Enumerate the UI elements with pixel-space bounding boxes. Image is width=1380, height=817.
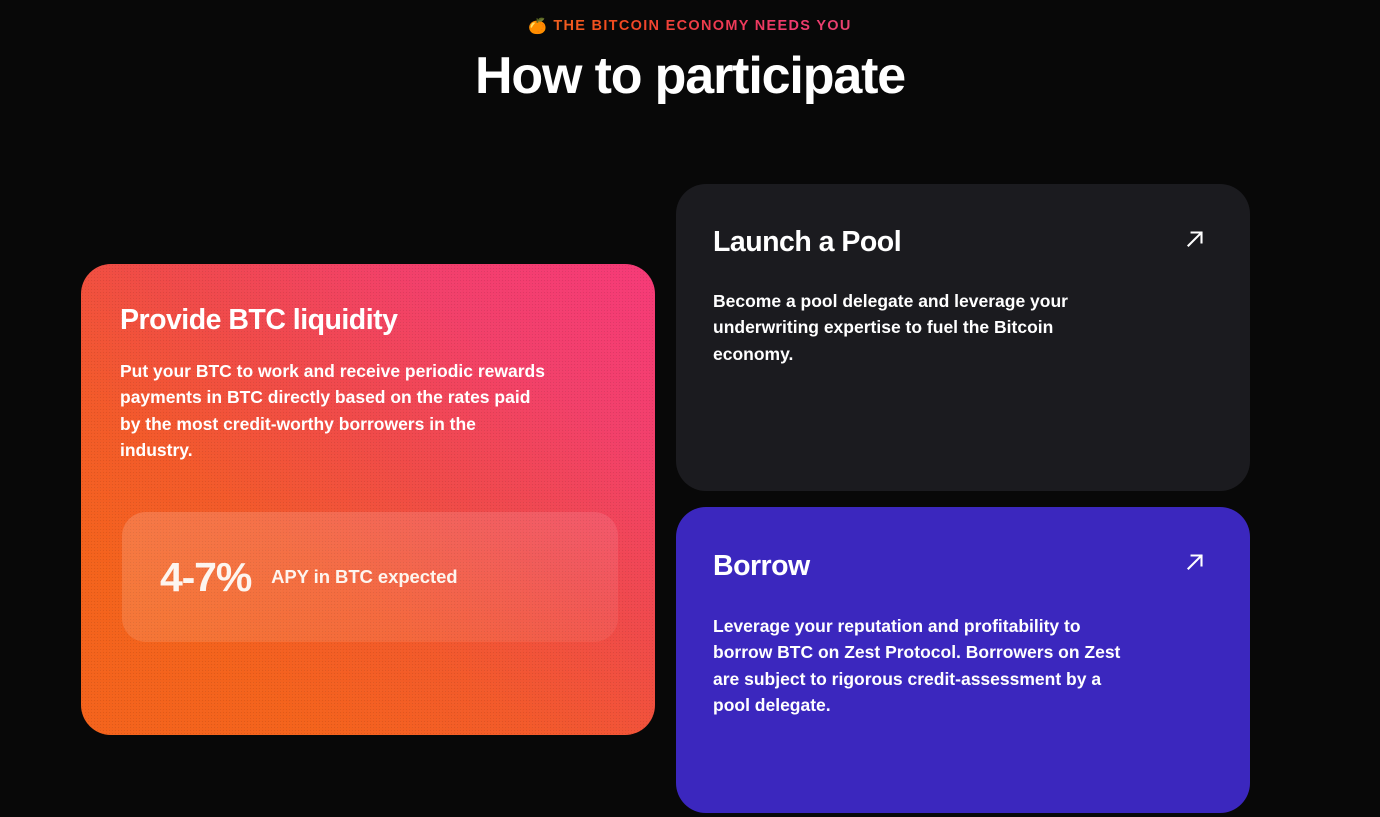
card-borrow[interactable]: Borrow Leverage your reputation and prof… [676,507,1250,813]
eyebrow-label: THE BITCOIN ECONOMY NEEDS YOU [553,18,851,34]
apy-badge: 4-7% APY in BTC expected [122,512,618,642]
card-title-liquidity: Provide BTC liquidity [120,305,397,336]
arrow-up-right-icon[interactable] [1182,226,1208,252]
card-launch-a-pool[interactable]: Launch a Pool Become a pool delegate and… [676,184,1250,491]
arrow-up-right-icon[interactable] [1182,549,1208,575]
card-body-borrow: Leverage your reputation and profitabili… [713,613,1138,718]
apy-label: APY in BTC expected [271,566,457,588]
card-body-liquidity: Put your BTC to work and receive periodi… [120,358,550,463]
card-title-borrow: Borrow [713,551,810,582]
card-title-pool: Launch a Pool [713,227,901,258]
section-eyebrow: 🍊THE BITCOIN ECONOMY NEEDS YOU [0,17,1380,35]
apy-value: 4-7% [160,557,251,598]
how-to-participate-section: 🍊THE BITCOIN ECONOMY NEEDS YOU How to pa… [0,0,1380,817]
tangerine-emoji: 🍊 [528,18,548,35]
card-body-pool: Become a pool delegate and leverage your… [713,288,1123,367]
page-title: How to participate [0,48,1380,104]
card-provide-btc-liquidity[interactable]: Provide BTC liquidity Put your BTC to wo… [81,264,655,735]
